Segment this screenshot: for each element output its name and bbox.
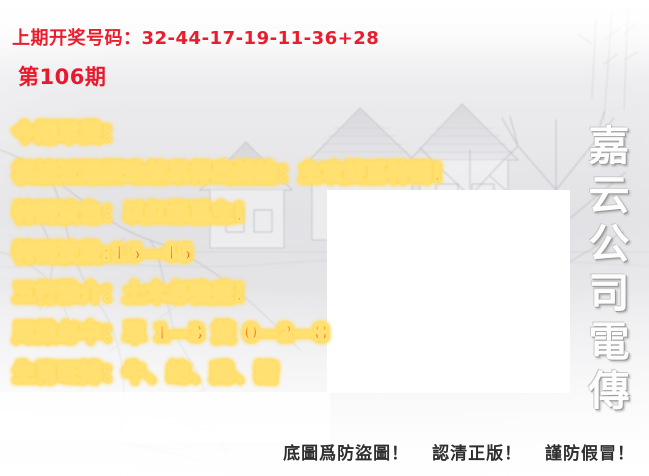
- tip-line-zodiac: 生肖旺搏：牛、蛇、鷄、猪: [14, 353, 634, 393]
- notice-segment-2: 認清正版！: [432, 444, 522, 464]
- tip-list: 今期單雙： 根據近期攪珠結果得出結論：主攻雙爲特碼！ 特碼波色：以紅綠爲主！ 特…: [14, 113, 634, 393]
- tip-line-odd-even: 今期單雙：: [14, 113, 634, 153]
- tip-line-conclusion: 根據近期攪珠結果得出結論：主攻雙爲特碼！: [14, 153, 634, 193]
- previous-draw-numbers: 上期开奖号码：32-44-17-19-11-36+28: [12, 24, 379, 50]
- tip-line-wave-colour: 特碼波色：以紅綠爲主！: [14, 193, 634, 233]
- notice-segment-3: 謹防假冒！: [545, 444, 635, 464]
- notice-segment-1: 底圖爲防盜圖！: [283, 444, 409, 464]
- poster-canvas: 上期开奖号码：32-44-17-19-11-36+28 第106期 今期單雙： …: [0, 0, 649, 476]
- issue-number: 第106期: [18, 61, 106, 91]
- tip-line-wave-range: 特碼波段:15--45: [14, 233, 634, 273]
- tip-line-five-elements: 五行推介：土木必強盛！: [14, 273, 634, 313]
- tip-line-tail-numbers: 尾數必中：單 1--3 雙 0--2--8: [14, 313, 634, 353]
- white-footer-panel: [0, 392, 330, 442]
- anti-piracy-notice: 底圖爲防盜圖！ 認清正版！ 謹防假冒！: [0, 439, 635, 464]
